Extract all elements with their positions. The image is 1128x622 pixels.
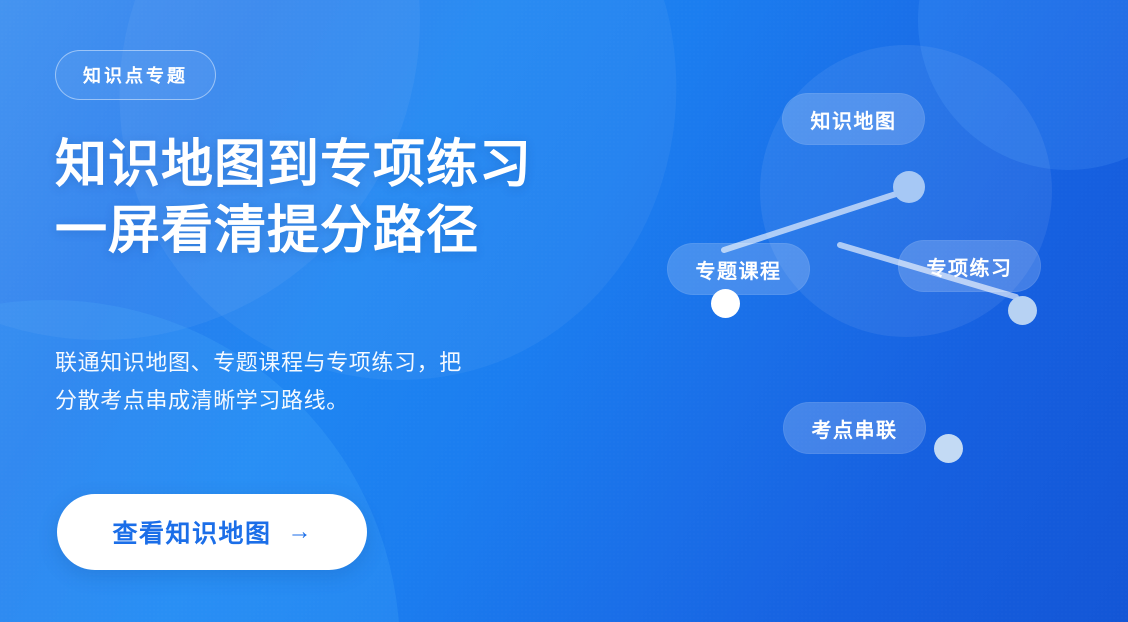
graph-dot-point-link[interactable] [934,434,963,463]
cta-label: 查看知识地图 [112,514,271,550]
view-knowledge-map-button[interactable]: 查看知识地图 → [57,494,367,570]
graph-node-special-drill[interactable]: 专项练习 [898,240,1041,292]
graph-dot-special-drill[interactable] [1008,296,1037,325]
arrow-right-icon: → [288,520,312,544]
connection-line-course-to-map [724,194,896,250]
graph-dot-knowledge-map[interactable] [893,171,925,203]
graph-node-knowledge-map[interactable]: 知识地图 [782,93,925,145]
banner-description: 联通知识地图、专题课程与专项练习，把 分散考点串成清晰学习路线。 [55,344,600,420]
graph-node-point-link[interactable]: 考点串联 [783,402,926,454]
banner-content: 知识点专题 知识地图到专项练习 一屏看清提分路径 联通知识地图、专题课程与专项练… [55,0,675,622]
promo-banner: 知识点专题 知识地图到专项练习 一屏看清提分路径 联通知识地图、专题课程与专项练… [0,0,1128,622]
graph-node-topic-course[interactable]: 专题课程 [667,243,810,295]
description-line-2: 分散考点串成清晰学习路线。 [55,382,600,420]
graph-dot-topic-course[interactable] [711,289,740,318]
headline-line-2: 一屏看清提分路径 [55,199,532,265]
page-title: 知识地图到专项练习 一屏看清提分路径 [55,133,532,264]
headline-line-1: 知识地图到专项练习 [55,133,532,199]
background-blob-top-right [918,0,1128,170]
topic-badge: 知识点专题 [55,50,216,100]
description-line-1: 联通知识地图、专题课程与专项练习，把 [55,344,600,382]
